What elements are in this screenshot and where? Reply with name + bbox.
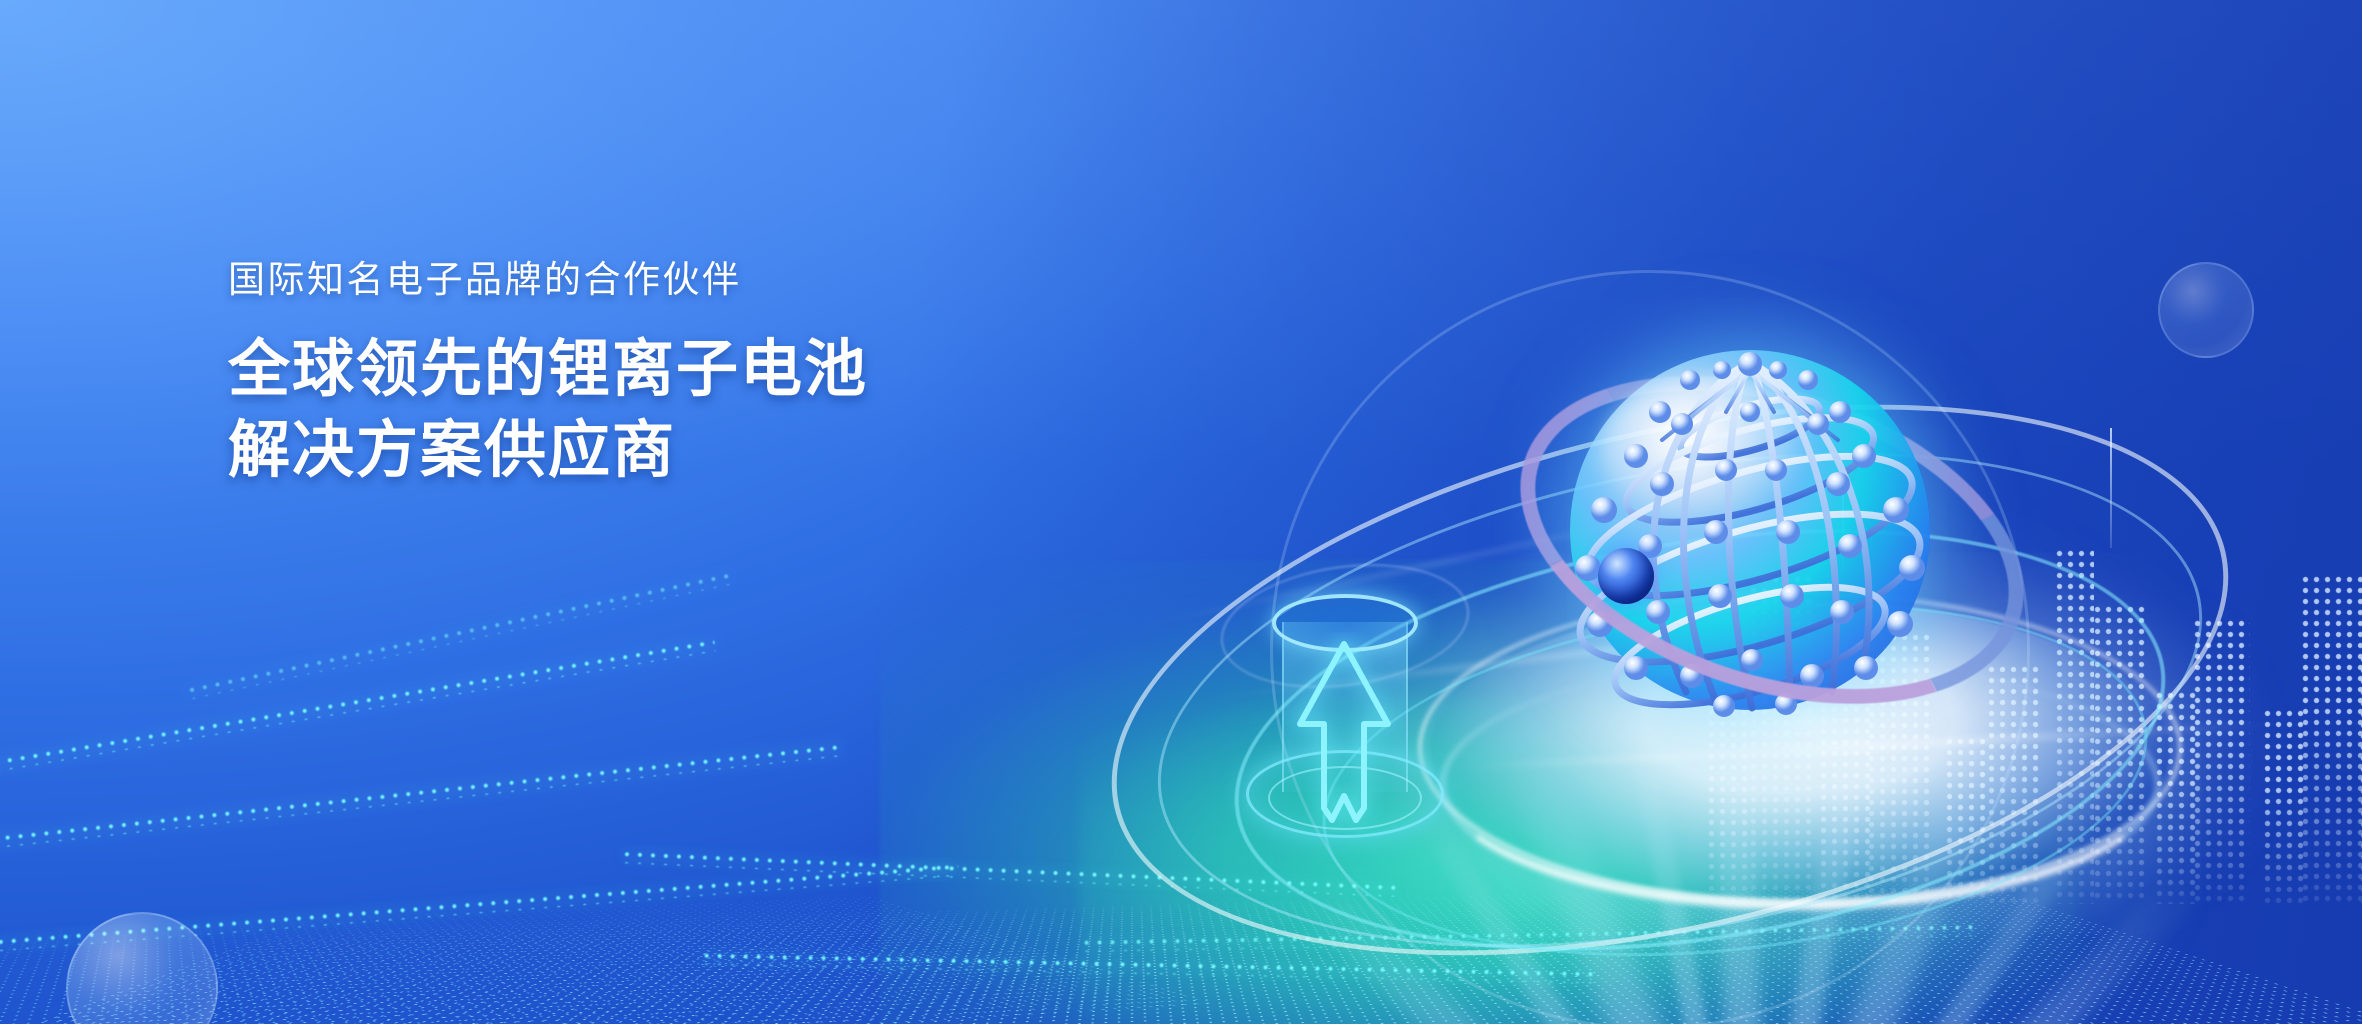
light-rays	[1380, 40, 2100, 700]
teal-glow-inner	[1080, 700, 2080, 1024]
wave-crest	[620, 849, 1400, 897]
bubble-icon	[2158, 262, 2254, 358]
banner-copy: 国际知名电子品牌的合作伙伴 全球领先的锂离子电池 解决方案供应商	[228, 258, 1128, 492]
city-skyline-icon	[1722, 344, 2362, 904]
globe-core	[1570, 350, 1930, 710]
up-arrow-icon	[1284, 632, 1404, 832]
orbit-ring-icon	[1058, 308, 2281, 1024]
wireframe-globe-icon	[1540, 320, 1960, 740]
horizon-streak	[1097, 487, 1783, 637]
hero-banner: 国际知名电子品牌的合作伙伴 全球领先的锂离子电池 解决方案供应商	[0, 0, 2362, 1024]
orbit-ring-icon	[1171, 171, 2129, 1024]
wave-crest	[0, 743, 838, 852]
wave-crest	[0, 637, 716, 776]
orbit-ring-icon	[1302, 561, 2167, 1000]
dot-wave-grid	[0, 882, 2362, 1024]
orbit-ring-front	[1478, 317, 2065, 763]
platform-edge	[1440, 660, 2160, 910]
background-right-gradient	[0, 0, 2362, 1024]
headline-line-2: 解决方案供应商	[228, 411, 1128, 492]
globe-wireframe	[1540, 320, 1960, 740]
teal-glow	[880, 560, 2220, 1024]
horizon-streak	[1183, 594, 2037, 706]
dot-wave-grid-secondary	[0, 896, 1224, 1024]
globe-highlight	[1600, 376, 1820, 526]
banner-headline: 全球领先的锂离子电池 解决方案供应商	[228, 330, 1128, 491]
energy-portal-icon	[1250, 600, 1440, 850]
wave-crest	[700, 951, 1600, 984]
platform-rim	[1418, 592, 2182, 904]
banner-eyebrow: 国际知名电子品牌的合作伙伴	[228, 258, 1128, 302]
horizon-streak	[1430, 720, 2289, 774]
wave-crest	[185, 570, 736, 700]
wave-crest	[1080, 922, 1980, 952]
glowing-platform-disc	[1430, 600, 2170, 900]
headline-line-1: 全球领先的锂离子电池	[228, 330, 1128, 411]
orbit-ring-icon	[1116, 373, 2244, 1024]
orbit-bead-icon	[1598, 548, 1654, 604]
orbit-ring-icon	[1204, 469, 2195, 1011]
orbit-ring-icon	[1478, 317, 2065, 763]
bubble-icon	[66, 912, 218, 1024]
wave-crest	[0, 862, 959, 953]
